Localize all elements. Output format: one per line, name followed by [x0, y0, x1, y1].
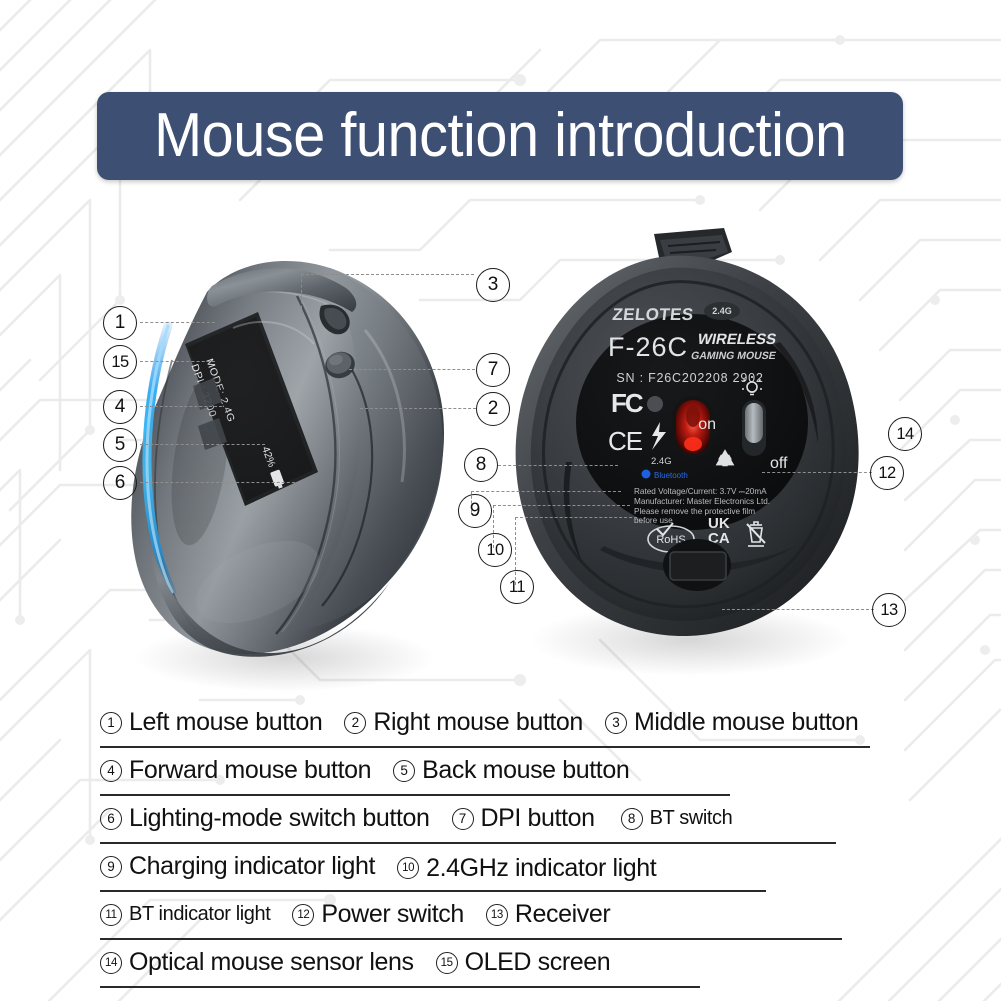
callout-13: 13	[872, 593, 906, 627]
leader-line-11-h	[515, 517, 637, 518]
legend-row-divider	[100, 938, 842, 940]
legend-item-5: 5Back mouse button	[393, 756, 629, 785]
svg-text:Bluetooth: Bluetooth	[654, 471, 688, 480]
legend-label-4: Forward mouse button	[129, 756, 371, 785]
legend-row: 9Charging indicator light102.4GHz indica…	[100, 852, 656, 883]
callout-2: 2	[476, 392, 510, 426]
legend-item-1: 1Left mouse button	[100, 708, 322, 737]
svg-text:WIRELESS: WIRELESS	[696, 331, 778, 348]
legend-row: 4Forward mouse button5Back mouse button	[100, 756, 629, 785]
legend-item-11: 11BT indicator light	[100, 903, 270, 926]
legend-row: 1Left mouse button2Right mouse button3Mi…	[100, 708, 858, 737]
svg-text:on: on	[698, 416, 716, 433]
legend-label-13: Receiver	[515, 900, 610, 929]
legend-row-divider	[100, 842, 836, 844]
infographic-page: Mouse function introduction	[0, 0, 1001, 1001]
page-title-banner: Mouse function introduction	[97, 92, 903, 180]
legend-item-2: 2Right mouse button	[344, 708, 583, 737]
legend-item-7: 7DPI button	[452, 804, 595, 833]
legend-label-15: OLED screen	[465, 948, 611, 977]
leader-line-15	[140, 361, 215, 362]
legend-row-divider	[100, 890, 766, 892]
legend-label-12: Power switch	[321, 900, 463, 929]
legend-label-8: BT switch	[650, 807, 733, 830]
legend-number-15: 15	[436, 952, 458, 974]
legend-number-8: 8	[621, 808, 643, 830]
legend-number-4: 4	[100, 760, 122, 782]
svg-text:SN : F26C202208 2902: SN : F26C202208 2902	[616, 371, 763, 385]
legend-row: 11BT indicator light12Power switch13Rece…	[100, 900, 610, 929]
callout-3: 3	[476, 268, 510, 302]
leader-line-2	[360, 408, 476, 409]
legend-label-7: DPI button	[481, 804, 595, 833]
legend-item-12: 12Power switch	[292, 900, 463, 929]
callout-8: 8	[464, 448, 498, 482]
legend-label-3: Middle mouse button	[634, 708, 858, 737]
leader-line-8	[498, 465, 618, 466]
legend-number-10: 10	[397, 857, 419, 879]
mouse-bottom-view: ZELOTES ® 2.4G F-26C WIRELESS GAMING MOU…	[516, 228, 859, 636]
legend-number-9: 9	[100, 856, 122, 878]
svg-text:CE: CE	[608, 426, 643, 456]
callout-6: 6	[103, 466, 137, 500]
legend-list: 1Left mouse button2Right mouse button3Mi…	[0, 700, 1001, 965]
callout-5: 5	[103, 428, 137, 462]
svg-text:Manufacturer: Master Electroni: Manufacturer: Master Electronics Ltd.	[634, 497, 770, 506]
legend-item-9: 9Charging indicator light	[100, 852, 375, 881]
legend-item-15: 15OLED screen	[436, 948, 611, 977]
legend-item-14: 14Optical mouse sensor lens	[100, 948, 414, 977]
legend-number-5: 5	[393, 760, 415, 782]
leader-line-4	[140, 406, 222, 407]
callout-11: 11	[500, 570, 534, 604]
fcc-mark: FC	[611, 388, 644, 418]
legend-number-11: 11	[100, 904, 122, 926]
leader-line-7	[349, 369, 475, 370]
callout-14: 14	[888, 417, 922, 451]
legend-item-10: 102.4GHz indicator light	[397, 854, 656, 883]
mouse-side-view: MODE: 2.4G DPI : 3200 42%	[131, 261, 444, 657]
leader-line-1	[140, 322, 215, 323]
svg-text:Please remove the protective f: Please remove the protective film	[634, 507, 755, 516]
callout-1: 1	[103, 306, 137, 340]
svg-text:ZELOTES: ZELOTES	[611, 305, 694, 324]
legend-label-9: Charging indicator light	[129, 852, 375, 881]
legend-number-6: 6	[100, 808, 122, 830]
callout-4: 4	[103, 390, 137, 424]
legend-number-12: 12	[292, 904, 314, 926]
svg-text:GAMING MOUSE: GAMING MOUSE	[690, 350, 777, 362]
svg-text:off: off	[770, 455, 788, 472]
page-title: Mouse function introduction	[154, 105, 847, 167]
legend-row: 6Lighting-mode switch button7DPI button8…	[100, 804, 732, 833]
legend-item-13: 13Receiver	[486, 900, 610, 929]
callout-10: 10	[478, 533, 512, 567]
legend-label-1: Left mouse button	[129, 708, 322, 737]
svg-text:2.4G: 2.4G	[712, 306, 732, 316]
leader-line-3-drop	[301, 274, 302, 314]
leader-line-6	[140, 482, 300, 483]
callout-12: 12	[870, 456, 904, 490]
leader-line-5	[140, 444, 265, 445]
legend-number-2: 2	[344, 712, 366, 734]
legend-label-6: Lighting-mode switch button	[129, 804, 430, 833]
leader-line-10-h	[493, 505, 630, 506]
callout-9: 9	[458, 494, 492, 528]
callout-7: 7	[476, 353, 510, 387]
leader-line-13	[722, 609, 874, 610]
legend-item-4: 4Forward mouse button	[100, 756, 371, 785]
callout-15: 15	[103, 345, 137, 379]
legend-item-8: 8BT switch	[621, 807, 733, 830]
leader-line-12	[762, 472, 872, 473]
receiver-compartment	[663, 539, 731, 591]
svg-text:F-26C: F-26C	[608, 332, 688, 362]
legend-number-14: 14	[100, 952, 122, 974]
legend-label-10: 2.4GHz indicator light	[426, 854, 656, 883]
svg-text:Rated Voltage/Current: 3.7V ⎓2: Rated Voltage/Current: 3.7V ⎓20mA	[634, 487, 767, 496]
leader-line-3-top	[301, 274, 474, 275]
leader-line-9-h	[471, 491, 621, 492]
legend-label-5: Back mouse button	[422, 756, 629, 785]
legend-label-2: Right mouse button	[373, 708, 583, 737]
legend-label-11: BT indicator light	[129, 903, 270, 926]
legend-number-3: 3	[605, 712, 627, 734]
svg-text:before use: before use	[634, 516, 673, 525]
legend-row-divider	[100, 746, 870, 748]
legend-row: 14Optical mouse sensor lens15OLED screen	[100, 948, 610, 977]
legend-number-1: 1	[100, 712, 122, 734]
legend-label-14: Optical mouse sensor lens	[129, 948, 414, 977]
legend-number-13: 13	[486, 904, 508, 926]
svg-text:2.4G: 2.4G	[651, 456, 672, 467]
legend-item-3: 3Middle mouse button	[605, 708, 858, 737]
ce-mark: CE	[608, 426, 643, 456]
svg-text:FC: FC	[611, 388, 644, 418]
legend-number-7: 7	[452, 808, 474, 830]
legend-item-6: 6Lighting-mode switch button	[100, 804, 430, 833]
legend-row-divider	[100, 794, 730, 796]
legend-row-divider	[100, 986, 700, 988]
